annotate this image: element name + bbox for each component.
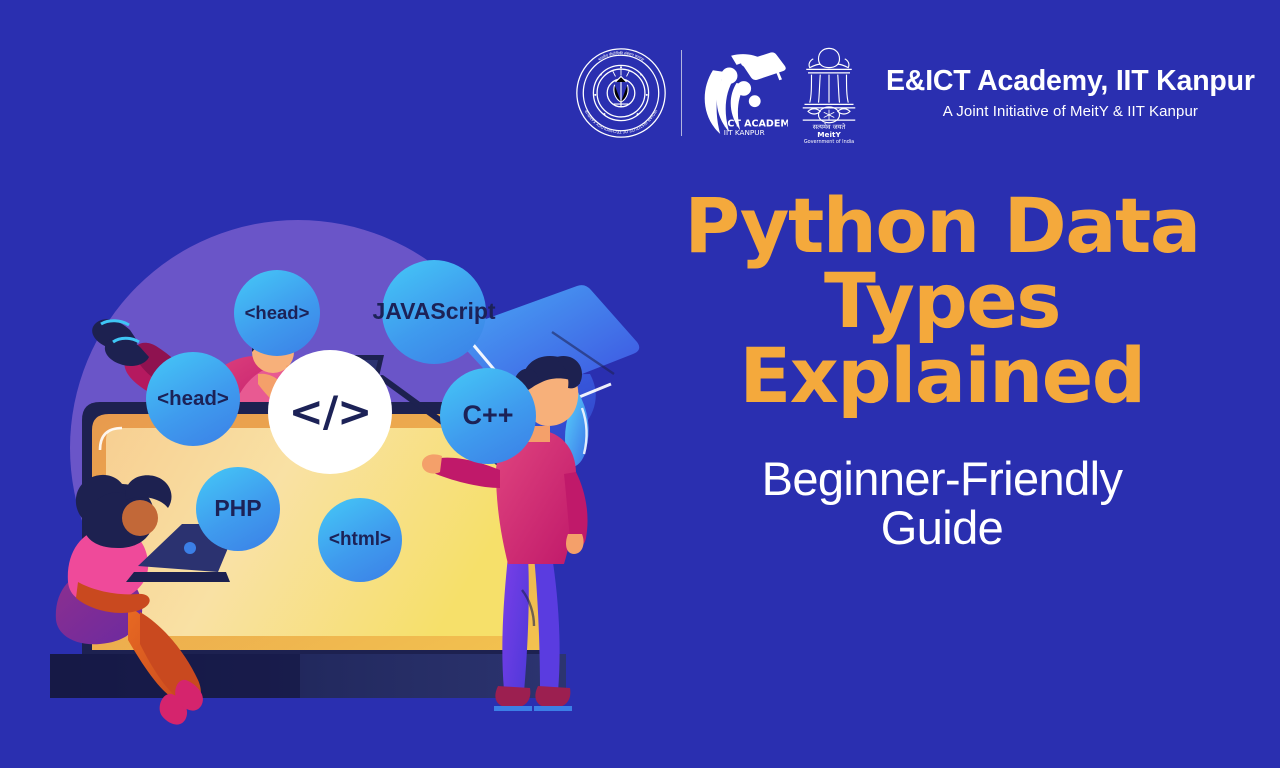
bubble-javascript-line2: Script (430, 300, 495, 324)
bubble-code: </> (268, 350, 392, 474)
copy-block: Python Data Types Explained Beginner-Fri… (648, 188, 1236, 552)
headline-line-1: Python Data (648, 188, 1236, 263)
brand-subtitle: A Joint Initiative of MeitY & IIT Kanpur (886, 103, 1255, 120)
brand-text-block: E&ICT Academy, IIT Kanpur A Joint Initia… (886, 66, 1255, 119)
meity-emblem-icon: सत्यमेव जयते MeitY Government of India (794, 41, 864, 145)
banner-canvas: <head> JAVA Script <head> </> C++ PHP <h… (0, 0, 1280, 768)
headline-line-3: Explained (648, 338, 1236, 413)
bubble-php: PHP (196, 467, 280, 551)
bubble-javascript-line1: JAVA (372, 300, 430, 324)
headline-line-2: Types (648, 263, 1236, 338)
brand-title: E&ICT Academy, IIT Kanpur (886, 66, 1255, 97)
illustration: <head> JAVA Script <head> </> C++ PHP <h… (30, 120, 670, 740)
bubble-html: <html> (318, 498, 402, 582)
bubble-cpp: C++ (440, 368, 536, 464)
meity-acronym: MeitY (817, 130, 841, 139)
subheadline: Beginner-Friendly Guide (648, 454, 1236, 553)
ict-academy-campus: IIT KANPUR (724, 128, 765, 137)
bubble-head-1: <head> (234, 270, 320, 356)
logo-divider (681, 50, 682, 136)
subheadline-line-1: Beginner-Friendly (648, 454, 1236, 503)
bubble-javascript: JAVA Script (382, 260, 486, 364)
iit-kanpur-seal-icon: भारतीय प्रौद्योगिकी संस्थान कानपुर INDIA… (575, 47, 667, 139)
headline: Python Data Types Explained (648, 188, 1236, 414)
ict-academy-logo-icon: ICT ACADEMY IIT KANPUR (696, 43, 788, 143)
subheadline-line-2: Guide (648, 503, 1236, 552)
bubble-head-2: <head> (146, 352, 240, 446)
meity-government: Government of India (804, 139, 854, 145)
brand-header: भारतीय प्रौद्योगिकी संस्थान कानपुर INDIA… (575, 38, 1255, 148)
